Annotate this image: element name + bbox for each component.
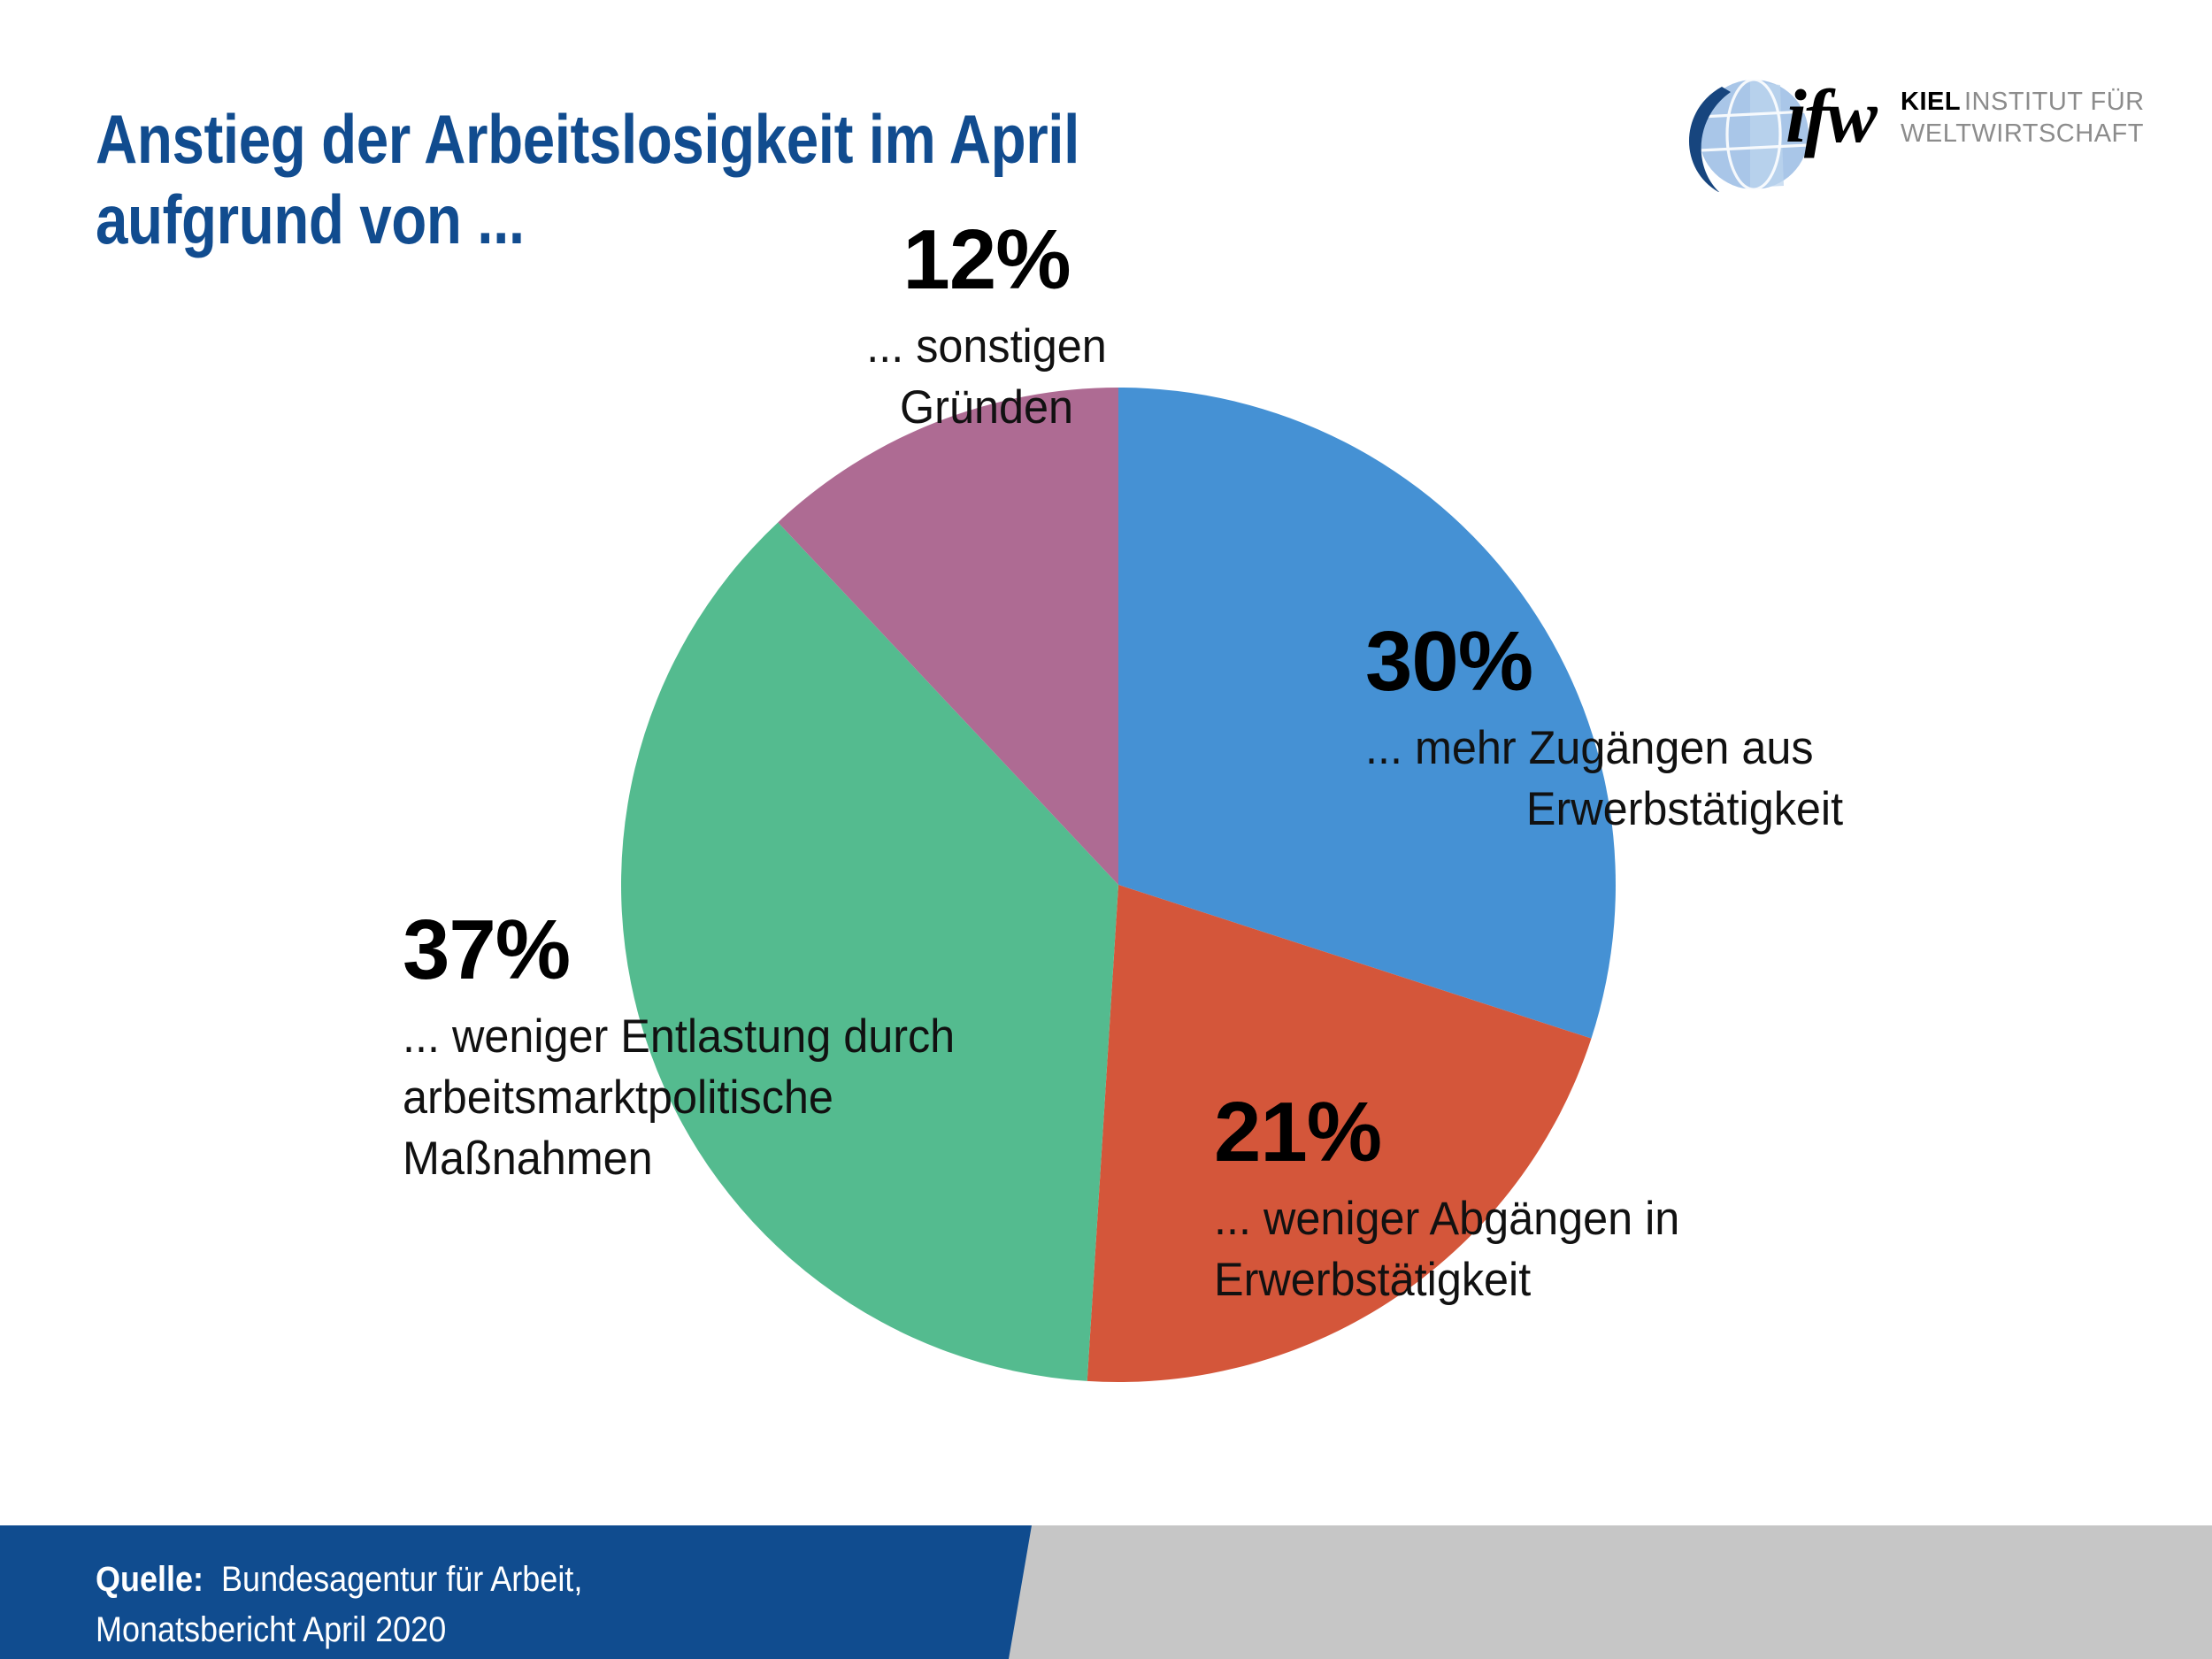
slice-label-weniger-entlastung: 37% ... weniger Entlastung durch arbeits… xyxy=(403,908,1181,1190)
slice-description-37: ... weniger Entlastung durch arbeitsmark… xyxy=(403,1007,1142,1190)
source-line-1: Quelle: Bundesagentur für Arbeit, xyxy=(96,1555,582,1605)
slice-desc-line: Maßnahmen xyxy=(403,1129,1142,1190)
slice-label-sonstige-gruende: 12% ... sonstigen Gründen xyxy=(801,218,1172,439)
slice-description-30: ... mehr Zugängen aus Erwerbstätigkeit xyxy=(1365,718,2004,841)
slice-percent-37: 37% xyxy=(403,908,1181,993)
slice-desc-line: Gründen xyxy=(810,378,1164,439)
slice-percent-21: 21% xyxy=(1214,1090,1886,1175)
pie-chart: 30% ... mehr Zugängen aus Erwerbstätigke… xyxy=(0,0,2212,1522)
slice-label-weniger-abgaengen: 21% ... weniger Abgängen in Erwerbstätig… xyxy=(1214,1090,1886,1311)
source-label: Quelle: xyxy=(96,1560,204,1599)
slice-percent-30: 30% xyxy=(1365,619,2038,704)
slice-desc-line: ... mehr Zugängen aus xyxy=(1365,718,2004,780)
slice-desc-line: arbeitsmarktpolitische xyxy=(403,1068,1142,1129)
slice-desc-line: ... weniger Abgängen in xyxy=(1214,1189,1853,1250)
source-value-1: Bundesagentur für Arbeit, xyxy=(221,1560,582,1599)
source-note: Quelle: Bundesagentur für Arbeit, Monats… xyxy=(96,1555,582,1655)
slice-description-12: ... sonstigen Gründen xyxy=(810,317,1164,439)
slice-desc-line: Erwerbstätigkeit xyxy=(1214,1250,1853,1311)
slice-description-21: ... weniger Abgängen in Erwerbstätigkeit xyxy=(1214,1189,1853,1311)
slice-percent-12: 12% xyxy=(801,218,1172,303)
slice-desc-line: ... sonstigen xyxy=(810,317,1164,378)
slice-label-mehr-zugaengen: 30% ... mehr Zugängen aus Erwerbstätigke… xyxy=(1365,619,2038,841)
slice-desc-line: Erwerbstätigkeit xyxy=(1365,780,2004,841)
source-line-2: Monatsbericht April 2020 xyxy=(96,1605,582,1655)
slice-desc-line: ... weniger Entlastung durch xyxy=(403,1007,1142,1068)
